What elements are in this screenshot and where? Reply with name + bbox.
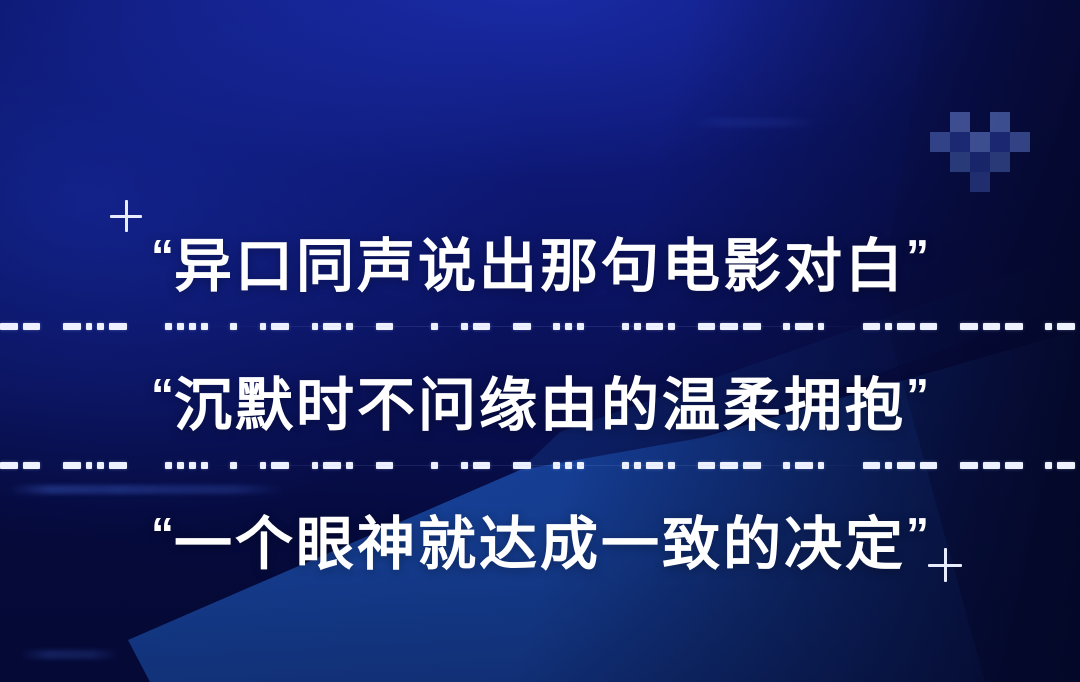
morse-tick (109, 462, 127, 469)
morse-tick (0, 323, 18, 330)
divider-glow-line (200, 465, 880, 466)
morse-tick (885, 323, 892, 330)
morse-tick (177, 323, 184, 330)
quote-text-2: 沉默时不问缘由的温柔拥抱 (174, 373, 906, 438)
morse-divider-2 (0, 461, 1080, 470)
morse-tick (97, 462, 104, 469)
morse-tick (165, 323, 172, 330)
morse-tick (1045, 462, 1052, 469)
morse-tick (0, 462, 18, 469)
morse-tick (23, 323, 41, 330)
quote-line-2: “沉默时不问缘由的温柔拥抱” (0, 372, 1080, 435)
morse-tick (1005, 323, 1023, 330)
morse-tick (97, 323, 104, 330)
morse-tick (983, 323, 1001, 330)
morse-tick (983, 462, 1001, 469)
morse-tick (86, 462, 93, 469)
quote-text-1: 异口同声说出那句电影对白 (174, 234, 906, 299)
morse-tick (1057, 323, 1075, 330)
morse-tick (189, 323, 196, 330)
morse-tick (960, 323, 978, 330)
quote-stack: “异口同声说出那句电影对白” (0, 0, 1080, 682)
morse-tick (1005, 462, 1023, 469)
morse-tick (885, 462, 892, 469)
open-quote-mark-2: “ (151, 369, 174, 421)
morse-tick (189, 462, 196, 469)
close-quote-mark-3: ” (906, 508, 929, 560)
morse-tick (63, 323, 81, 330)
open-quote-mark-1: “ (151, 230, 174, 282)
morse-tick (177, 462, 184, 469)
quote-line-3: “一个眼神就达成一致的决定” (0, 511, 1080, 574)
close-quote-mark-1: ” (906, 230, 929, 282)
poster-canvas: “异口同声说出那句电影对白” (0, 0, 1080, 682)
morse-divider-1 (0, 322, 1080, 331)
morse-tick (23, 462, 41, 469)
close-quote-mark-2: ” (906, 369, 929, 421)
morse-tick (165, 462, 172, 469)
morse-tick (897, 462, 915, 469)
morse-tick (960, 462, 978, 469)
morse-tick (920, 323, 938, 330)
open-quote-mark-3: “ (151, 508, 174, 560)
morse-tick (1057, 462, 1075, 469)
morse-tick (109, 323, 127, 330)
morse-tick (86, 323, 93, 330)
divider-glow-line (200, 326, 880, 327)
quote-text-3: 一个眼神就达成一致的决定 (174, 512, 906, 577)
morse-tick (920, 462, 938, 469)
morse-tick (63, 462, 81, 469)
quote-line-1: “异口同声说出那句电影对白” (0, 233, 1080, 296)
morse-tick (1045, 323, 1052, 330)
morse-tick (897, 323, 915, 330)
